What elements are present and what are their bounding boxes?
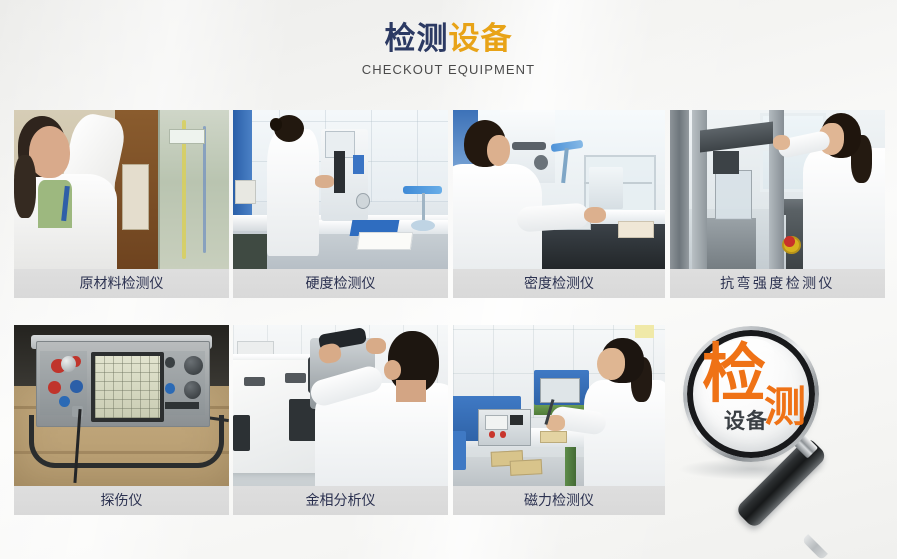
equipment-card-flexural[interactable]: 抗弯强度检测仪 bbox=[670, 110, 885, 298]
magnifier-logo: 检 测 设备 bbox=[668, 322, 897, 559]
equipment-card-raw-material[interactable]: 原材料检测仪 bbox=[14, 110, 229, 298]
page-title-accent: 设备 bbox=[449, 21, 513, 56]
section-header: 检测设备 CHECKOUT EQUIPMENT bbox=[0, 0, 897, 104]
flaw-detector-photo bbox=[14, 325, 229, 486]
logo-word-medium: 测 bbox=[764, 386, 806, 428]
equipment-caption: 硬度检测仪 bbox=[233, 269, 448, 298]
magnetic-tester-photo bbox=[453, 325, 665, 486]
page-root: 检测设备 CHECKOUT EQUIPMENT 原材料检测仪 bbox=[0, 0, 897, 559]
logo-word-large: 检 bbox=[702, 342, 766, 406]
page-title: 检测设备 bbox=[0, 19, 897, 59]
equipment-caption: 磁力检测仪 bbox=[453, 486, 665, 515]
equipment-caption: 抗弯强度检测仪 bbox=[670, 269, 885, 298]
equipment-card-flaw-detector[interactable]: 探伤仪 bbox=[14, 325, 229, 515]
equipment-caption: 密度检测仪 bbox=[453, 269, 665, 298]
magnifier-handle-tip bbox=[802, 534, 828, 559]
density-tester-photo bbox=[453, 110, 665, 269]
equipment-caption: 金相分析仪 bbox=[233, 486, 448, 515]
equipment-card-density[interactable]: 密度检测仪 bbox=[453, 110, 665, 298]
equipment-caption: 原材料检测仪 bbox=[14, 269, 229, 298]
equipment-caption: 探伤仪 bbox=[14, 486, 229, 515]
equipment-card-metallographic[interactable]: 金相分析仪 bbox=[233, 325, 448, 515]
equipment-card-magnetic[interactable]: 磁力检测仪 bbox=[453, 325, 665, 515]
hardness-tester-photo bbox=[233, 110, 448, 269]
raw-material-tester-photo bbox=[14, 110, 229, 269]
page-subtitle: CHECKOUT EQUIPMENT bbox=[0, 61, 897, 79]
metallographic-analyzer-photo bbox=[233, 325, 448, 486]
page-title-primary: 检测 bbox=[385, 21, 449, 56]
flexural-strength-tester-photo bbox=[670, 110, 885, 269]
equipment-card-hardness[interactable]: 硬度检测仪 bbox=[233, 110, 448, 298]
logo-word-small: 设备 bbox=[724, 411, 768, 432]
